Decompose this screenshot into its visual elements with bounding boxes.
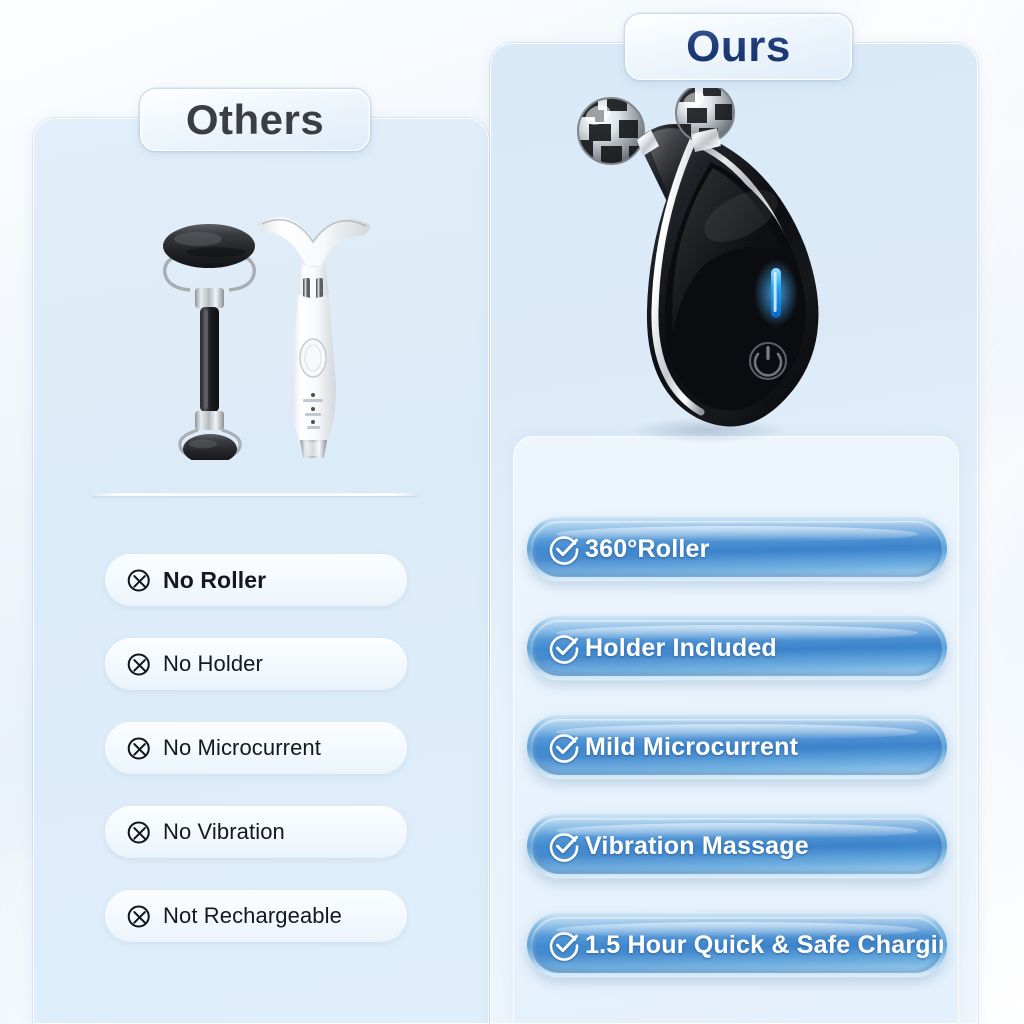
x-circle-icon bbox=[126, 735, 153, 762]
check-circle-icon bbox=[547, 631, 581, 665]
ours-feature-label: 1.5 Hour Quick & Safe Charging bbox=[585, 931, 943, 960]
others-feature-label: No Roller bbox=[163, 567, 266, 594]
heading-ours: Ours bbox=[625, 14, 852, 80]
x-circle-icon bbox=[126, 819, 153, 846]
ours-feature-item[interactable]: 1.5 Hour Quick & Safe Charging bbox=[527, 913, 947, 977]
heading-others: Others bbox=[140, 89, 370, 151]
others-feature-label: No Vibration bbox=[163, 819, 285, 845]
check-circle-icon bbox=[547, 829, 581, 863]
others-product-images bbox=[140, 190, 380, 460]
ours-feature-item[interactable]: 360°Roller bbox=[527, 517, 947, 581]
ours-feature-label: 360°Roller bbox=[585, 535, 710, 564]
ours-feature-label: Vibration Massage bbox=[585, 832, 809, 861]
ours-product-image bbox=[545, 88, 845, 448]
others-divider bbox=[92, 493, 417, 496]
ours-feature-label: Mild Microcurrent bbox=[585, 733, 798, 762]
others-feature-item[interactable]: No Holder bbox=[105, 638, 407, 690]
check-circle-icon bbox=[547, 928, 581, 962]
others-feature-item[interactable]: Not Rechargeable bbox=[105, 890, 407, 942]
heading-ours-label: Ours bbox=[686, 22, 791, 72]
others-feature-item[interactable]: No Roller bbox=[105, 554, 407, 606]
ours-feature-label: Holder Included bbox=[585, 634, 777, 663]
ours-feature-item[interactable]: Holder Included bbox=[527, 616, 947, 680]
others-feature-label: Not Rechargeable bbox=[163, 903, 342, 929]
others-feature-item[interactable]: No Vibration bbox=[105, 806, 407, 858]
x-circle-icon bbox=[126, 903, 153, 930]
ours-feature-item[interactable]: Vibration Massage bbox=[527, 814, 947, 878]
others-feature-label: No Holder bbox=[163, 651, 263, 677]
check-circle-icon bbox=[547, 730, 581, 764]
roller-ball-left bbox=[575, 93, 659, 164]
comparison-infographic: Others No Roller No Holder No Microcurre… bbox=[0, 0, 1024, 1024]
jade-roller-illustration bbox=[163, 224, 255, 460]
ours-feature-item[interactable]: Mild Microcurrent bbox=[527, 715, 947, 779]
others-feature-item[interactable]: No Microcurrent bbox=[105, 722, 407, 774]
black-roller-massager-illustration bbox=[545, 88, 845, 448]
check-circle-icon bbox=[547, 532, 581, 566]
x-circle-icon bbox=[126, 651, 153, 678]
others-products-illustration bbox=[140, 190, 380, 460]
others-feature-label: No Microcurrent bbox=[163, 735, 321, 761]
x-circle-icon bbox=[126, 567, 153, 594]
neck-massager-illustration bbox=[258, 217, 371, 458]
heading-others-label: Others bbox=[186, 96, 324, 144]
